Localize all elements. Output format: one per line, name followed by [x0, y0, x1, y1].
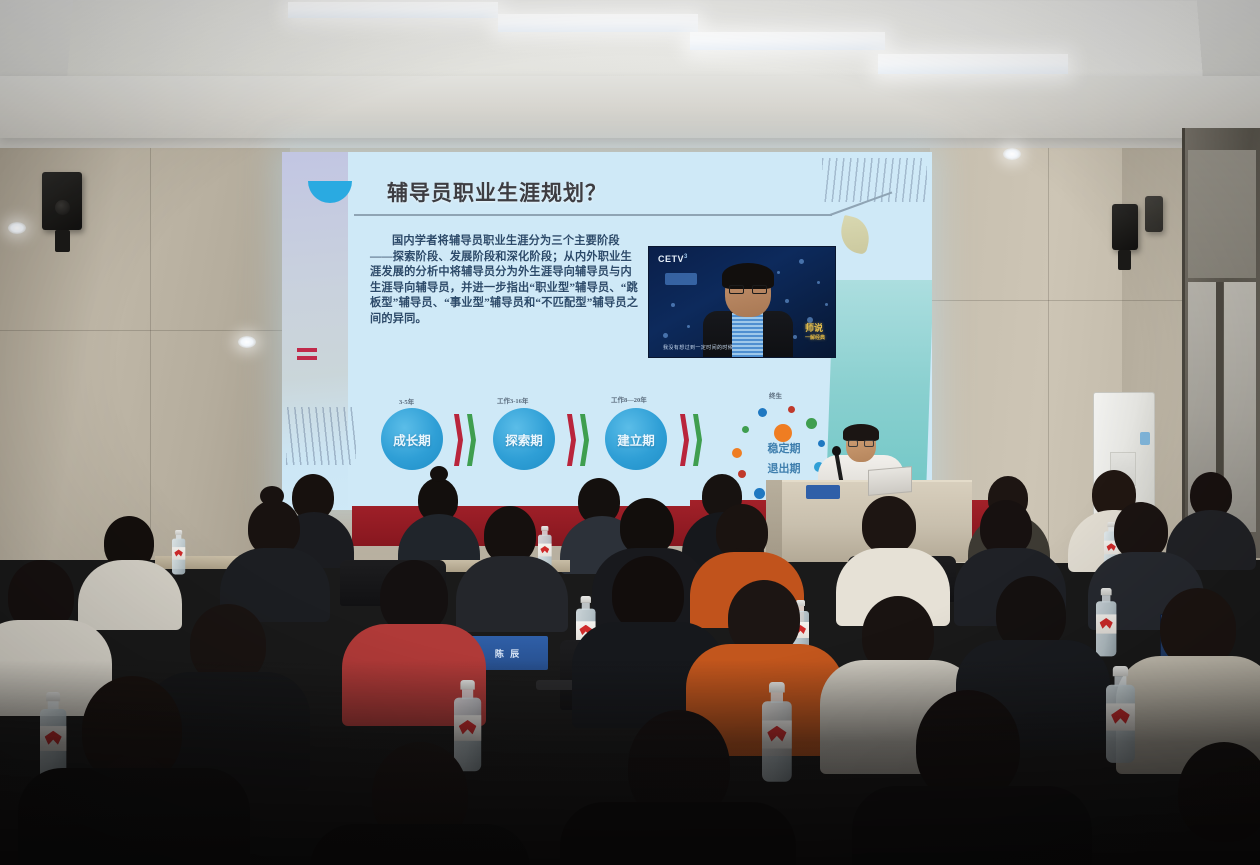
- hatch-lines-left-icon: [286, 407, 356, 465]
- downlight: [1003, 148, 1021, 160]
- wall-seam: [150, 120, 151, 560]
- audience-head: [612, 556, 684, 632]
- slide-divider: [354, 214, 832, 216]
- dot-cluster-line-0: 稳定期: [730, 440, 838, 456]
- lecture-hall-photo: 辅导员职业生涯规划？ 国内学者将辅导员职业生涯分为三个主要阶段——探索阶段、发展…: [0, 0, 1260, 865]
- audience-head: [380, 560, 448, 634]
- video-thumbnail: CETV3 我没有想过到一定时间的时候 师说 一解经典: [648, 246, 836, 358]
- audience-shoulders: [456, 556, 568, 632]
- strip-light: [288, 2, 498, 18]
- downlight: [238, 336, 256, 348]
- slide-title: 辅导员职业生涯规划？: [387, 177, 607, 207]
- slide-body-text: 国内学者将辅导员职业生涯分为三个主要阶段——探索阶段、发展阶段和深化阶段；从内外…: [370, 234, 642, 327]
- wall-seam: [0, 330, 290, 331]
- timeline-label-2: 工作8—20年: [611, 394, 647, 404]
- presenter-laptop: [868, 466, 912, 496]
- presenter-desk-box: [806, 485, 840, 499]
- timeline-arrow-icon: [454, 414, 488, 466]
- timeline-circle-2: 建立期: [605, 408, 667, 470]
- video-person-glasses-icon: [729, 285, 767, 294]
- downlight: [8, 222, 26, 234]
- speaker-mount: [55, 230, 70, 252]
- strip-light: [878, 54, 1068, 74]
- ac-badge: [1140, 432, 1150, 445]
- khaki-leaf-icon: [836, 215, 873, 255]
- speaker-mount: [1118, 250, 1131, 270]
- ceiling-soffit: [0, 76, 1260, 138]
- timeline-final-label: 终生: [769, 390, 782, 400]
- presenter-hair: [843, 424, 879, 441]
- audience-shoulders: [852, 786, 1092, 865]
- audience-hair-bun: [430, 466, 448, 482]
- timeline-label-0: 3-5年: [399, 396, 414, 406]
- timeline-label-1: 工作3-16年: [497, 395, 528, 405]
- audience-shoulders: [560, 802, 796, 865]
- video-watermark: 师说 一解经典: [805, 321, 825, 341]
- timeline-circle-0: 成长期: [381, 408, 443, 470]
- video-chip: [665, 273, 697, 285]
- video-caption: 我没有想过到一定时间的时候: [663, 344, 733, 351]
- audience-hair-bun: [260, 486, 284, 506]
- wall-seam: [930, 300, 1186, 301]
- audience-shoulders: [18, 768, 250, 865]
- wall-speaker: [1145, 196, 1163, 232]
- strip-light: [690, 32, 885, 50]
- presenter-microphone-head: [832, 446, 841, 456]
- audience-shoulders: [78, 560, 182, 630]
- red-equals-icon: [297, 348, 317, 362]
- presenter-glasses-icon: [848, 440, 874, 447]
- timeline-arrow-icon: [680, 414, 714, 466]
- timeline-circle-1: 探索期: [493, 408, 555, 470]
- teal-rectangle: [827, 280, 932, 480]
- timeline-arrow-icon: [567, 414, 601, 466]
- hatch-lines-right-icon: [822, 158, 927, 202]
- wall-seam: [1048, 118, 1049, 563]
- speaker-cone-icon: [55, 200, 70, 215]
- cetv-logo: CETV3: [658, 254, 688, 264]
- window-blind: [1188, 150, 1256, 278]
- podium-side: [766, 480, 782, 562]
- video-person-shirt: [732, 313, 763, 358]
- audience-shoulders: [310, 824, 530, 865]
- wall-speaker: [1112, 204, 1138, 250]
- audience-head: [1178, 742, 1260, 842]
- strip-light: [498, 14, 698, 32]
